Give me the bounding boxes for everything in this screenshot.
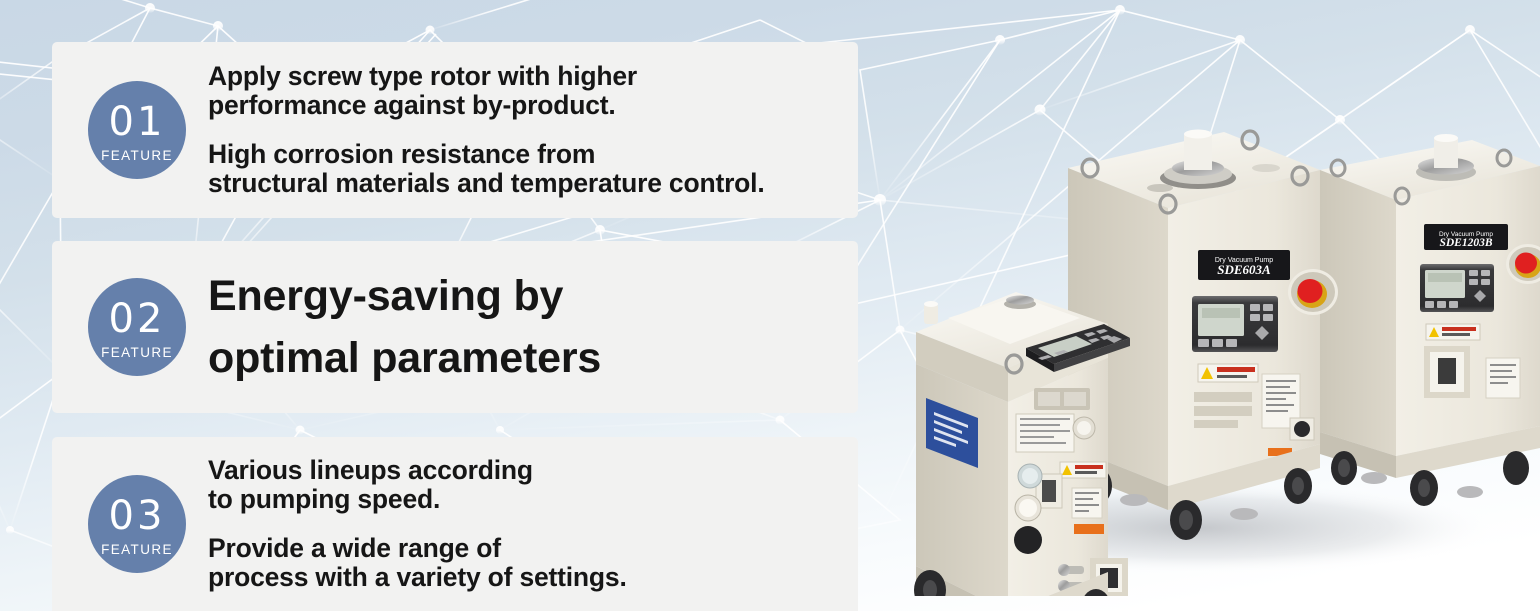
feature-text-line: process with a variety of settings. bbox=[208, 562, 627, 592]
product-photo: Dry Vacuum Pump SDE1203B bbox=[868, 96, 1540, 596]
feature-paragraph: Various lineups according to pumping spe… bbox=[208, 456, 858, 514]
feature-badge-2: 02 FEATURE bbox=[88, 278, 186, 376]
pump-unit-front-left bbox=[914, 292, 1130, 596]
feature-panel-1: 01 FEATURE Apply screw type rotor with h… bbox=[52, 42, 858, 218]
feature-label-3: FEATURE bbox=[101, 543, 173, 557]
feature-badge-3: 03 FEATURE bbox=[88, 475, 186, 573]
feature-banner: Dry Vacuum Pump SDE1203B bbox=[0, 0, 1540, 611]
feature-number-3: 03 bbox=[109, 496, 166, 536]
feature-text-line: Apply screw type rotor with higher bbox=[208, 61, 637, 91]
feature-paragraph: Apply screw type rotor with higher perfo… bbox=[208, 62, 858, 120]
feature-text-1: Apply screw type rotor with higher perfo… bbox=[208, 62, 858, 198]
feature-number-1: 01 bbox=[109, 102, 166, 142]
feature-label-1: FEATURE bbox=[101, 149, 173, 163]
feature-paragraph: Provide a wide range of process with a v… bbox=[208, 534, 858, 592]
feature-paragraph: Energy-saving by optimal parameters bbox=[208, 265, 858, 389]
feature-text-2: Energy-saving by optimal parameters bbox=[208, 265, 858, 389]
feature-paragraph: High corrosion resistance from structura… bbox=[208, 140, 858, 198]
feature-text-line: Various lineups according bbox=[208, 455, 533, 485]
pump-model-label-middle: SDE603A bbox=[1217, 262, 1271, 277]
feature-text-line: High corrosion resistance from bbox=[208, 139, 595, 169]
feature-panel-2: 02 FEATURE Energy-saving by optimal para… bbox=[52, 241, 858, 413]
feature-text-line: structural materials and temperature con… bbox=[208, 168, 765, 198]
feature-text-line: Energy-saving by bbox=[208, 272, 563, 320]
feature-text-3: Various lineups according to pumping spe… bbox=[208, 456, 858, 592]
pump-model-label-right: SDE1203B bbox=[1439, 237, 1492, 249]
feature-text-line: Provide a wide range of bbox=[208, 533, 501, 563]
feature-text-line: optimal parameters bbox=[208, 334, 601, 382]
feature-text-line: performance against by-product. bbox=[208, 90, 616, 120]
feature-number-2: 02 bbox=[109, 299, 166, 339]
feature-badge-1: 01 FEATURE bbox=[88, 81, 186, 179]
feature-text-line: to pumping speed. bbox=[208, 484, 440, 514]
pump-unit-right: Dry Vacuum Pump SDE1203B bbox=[1320, 134, 1540, 506]
feature-label-2: FEATURE bbox=[101, 346, 173, 360]
feature-panel-3: 03 FEATURE Various lineups according to … bbox=[52, 437, 858, 611]
